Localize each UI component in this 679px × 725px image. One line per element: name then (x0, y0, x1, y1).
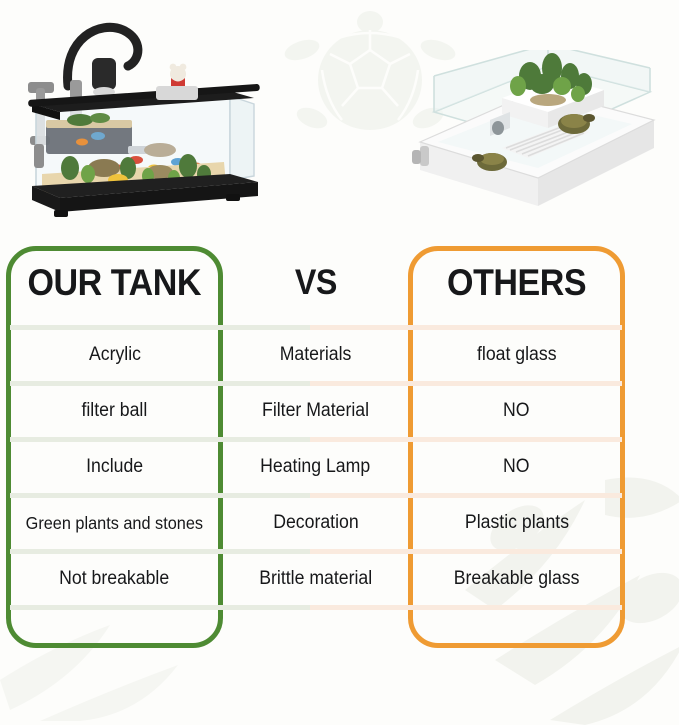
header-our-tank: OUR TANK (6, 240, 223, 325)
cell-our-tank: Include (6, 442, 223, 493)
row-divider (0, 605, 679, 610)
table-row: Green plants and stones Decoration Plast… (0, 498, 679, 549)
comparison-header-row: OUR TANK VS OTHERS (0, 240, 679, 325)
cell-value: NO (503, 457, 530, 478)
cell-feature: Decoration (228, 498, 403, 549)
cell-value: Breakable glass (454, 569, 580, 590)
cell-value: NO (503, 401, 530, 422)
table-row: filter ball Filter Material NO (0, 386, 679, 437)
table-row: Acrylic Materials float glass (0, 330, 679, 381)
cell-value: Filter Material (262, 401, 369, 422)
cell-our-tank: Green plants and stones (6, 498, 223, 549)
header-our-tank-label: OUR TANK (28, 264, 201, 301)
comparison-grid: OUR TANK VS OTHERS Acrylic Materials flo… (0, 240, 679, 660)
cell-value: Decoration (273, 513, 358, 534)
cell-value: Green plants and stones (26, 514, 203, 533)
cell-feature: Brittle material (228, 554, 403, 605)
cell-our-tank: Acrylic (6, 330, 223, 381)
cell-feature: Heating Lamp (228, 442, 403, 493)
table-row: Include Heating Lamp NO (0, 442, 679, 493)
comparison-table: OUR TANK VS OTHERS Acrylic Materials flo… (0, 240, 679, 660)
cell-value: Not breakable (59, 569, 169, 590)
cell-value: Include (86, 457, 143, 478)
header-vs-label: VS (294, 265, 336, 300)
cell-value: Acrylic (88, 345, 140, 366)
cell-feature: Filter Material (228, 386, 403, 437)
cell-value: Plastic plants (464, 513, 568, 534)
header-others: OTHERS (408, 240, 625, 325)
product-photo-band (0, 0, 679, 240)
cell-value: Materials (280, 345, 352, 366)
cell-value: Heating Lamp (260, 457, 370, 478)
cell-others: Plastic plants (408, 498, 625, 549)
cell-value: float glass (477, 345, 557, 366)
cell-value: Brittle material (259, 569, 372, 590)
cell-our-tank: Not breakable (6, 554, 223, 605)
table-row: Not breakable Brittle material Breakable… (0, 554, 679, 605)
cell-others: NO (408, 442, 625, 493)
cell-others: float glass (408, 330, 625, 381)
cell-others: NO (408, 386, 625, 437)
cell-value: filter ball (82, 401, 148, 422)
cell-others: Breakable glass (408, 554, 625, 605)
header-vs: VS (228, 240, 403, 325)
our-tank-photo (8, 8, 278, 230)
others-tank-photo (398, 50, 670, 230)
header-others-label: OTHERS (447, 264, 586, 301)
cell-feature: Materials (228, 330, 403, 381)
cell-our-tank: filter ball (6, 386, 223, 437)
